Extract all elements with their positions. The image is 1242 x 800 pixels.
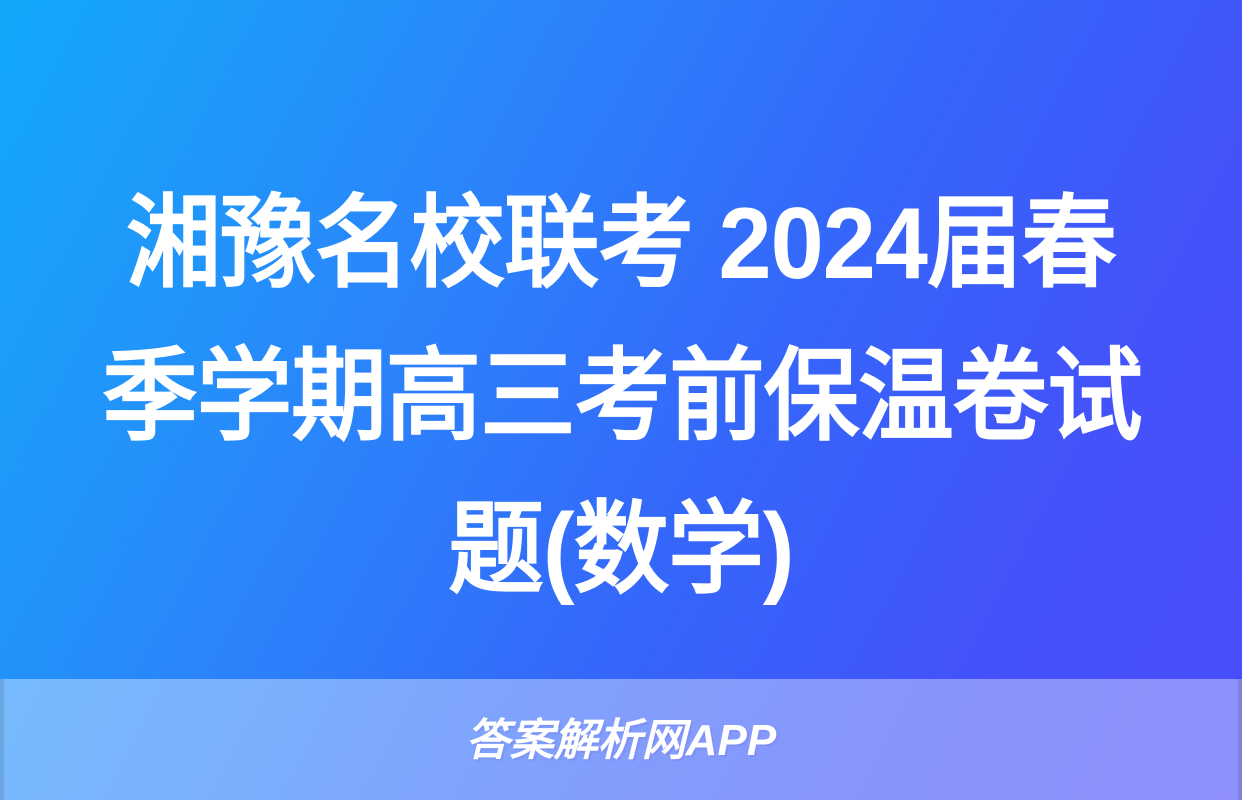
watermark-band: 答案解析网APP bbox=[0, 679, 1242, 800]
app-watermark-label: 答案解析网APP bbox=[466, 719, 776, 763]
band-edge-strip-right bbox=[1238, 679, 1242, 800]
band-edge-strip-left bbox=[0, 679, 4, 800]
title-line-1: 湘豫名校联考 2024届春 bbox=[102, 168, 1140, 321]
title-line-2: 季学期高三考前保温卷试 bbox=[102, 321, 1140, 474]
title-line-3: 题(数学) bbox=[102, 474, 1140, 627]
poster-card: 湘豫名校联考 2024届春 季学期高三考前保温卷试 题(数学) 答案解析网APP bbox=[0, 0, 1242, 800]
poster-title: 湘豫名校联考 2024届春 季学期高三考前保温卷试 题(数学) bbox=[0, 168, 1242, 627]
